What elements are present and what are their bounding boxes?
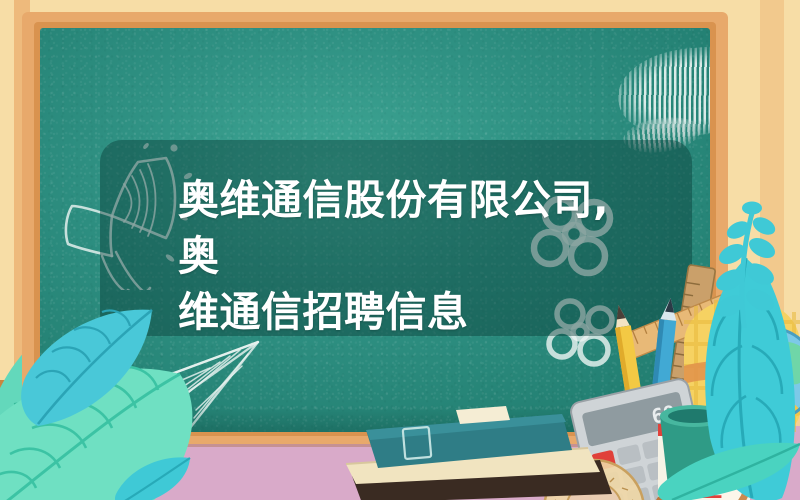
poster-canvas: 奥维通信股份有限公司,奥 维通信招聘信息 [0, 0, 800, 500]
leaf-small-bottom-left [110, 452, 200, 500]
book-stack-center [300, 398, 640, 500]
page-title: 奥维通信股份有限公司,奥 维通信招聘信息 [178, 172, 648, 340]
leaf-bottom-right [640, 436, 800, 500]
title-line-2: 维通信招聘信息 [178, 284, 648, 340]
title-line-1: 奥维通信股份有限公司,奥 [178, 172, 648, 284]
leaf-fern-right [700, 200, 790, 330]
leaf-blue-left [12, 300, 162, 430]
